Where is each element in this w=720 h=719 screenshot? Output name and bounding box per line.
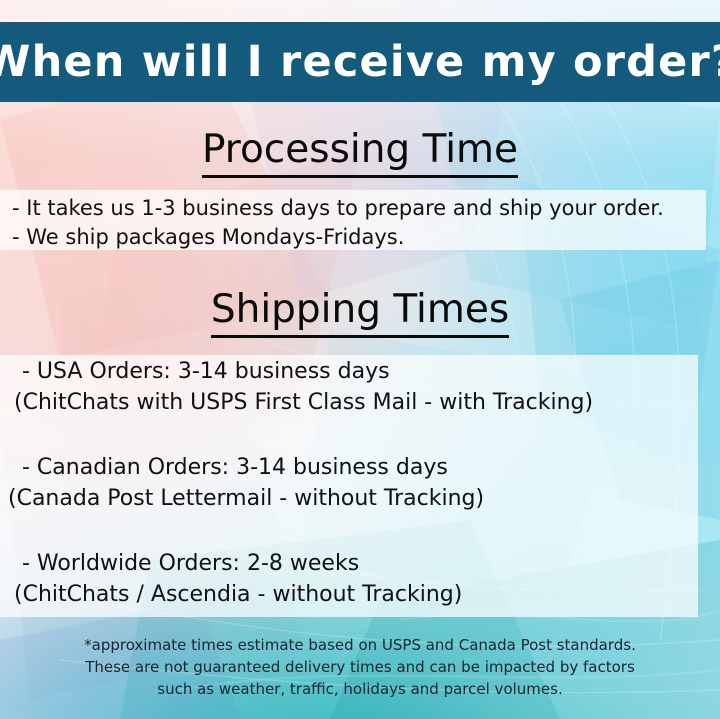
shipping-times-heading: Shipping Times [0, 290, 720, 329]
shipping-entry-worldwide-headline: - Worldwide Orders: 2-8 weeks [22, 548, 462, 579]
footnote-disclaimer: *approximate times estimate based on USP… [0, 634, 720, 700]
shipping-times-heading-text: Shipping Times [211, 287, 509, 338]
shipping-entry-usa-detail: (ChitChats with USPS First Class Mail - … [14, 387, 593, 418]
shipping-entry-canada: - Canadian Orders: 3-14 business days (C… [22, 452, 484, 514]
shipping-entry-worldwide: - Worldwide Orders: 2-8 weeks (ChitChats… [22, 548, 462, 610]
shipping-entry-canada-detail: (Canada Post Lettermail - without Tracki… [8, 483, 484, 514]
shipping-info-poster: When will I receive my order? Processing… [0, 0, 720, 719]
footnote-line-2: These are not guaranteed delivery times … [0, 656, 720, 678]
processing-time-heading: Processing Time [0, 130, 720, 169]
shipping-entry-canada-headline: - Canadian Orders: 3-14 business days [22, 452, 484, 483]
shipping-entry-usa-headline: - USA Orders: 3-14 business days [22, 356, 593, 387]
processing-time-heading-text: Processing Time [202, 127, 518, 178]
page-title: When will I receive my order? [0, 41, 720, 84]
shipping-entry-usa: - USA Orders: 3-14 business days (ChitCh… [22, 356, 593, 418]
footnote-line-3: such as weather, traffic, holidays and p… [0, 678, 720, 700]
processing-time-line-1: - It takes us 1-3 business days to prepa… [12, 194, 664, 223]
footnote-line-1: *approximate times estimate based on USP… [0, 634, 720, 656]
processing-time-line-2: - We ship packages Mondays-Fridays. [12, 223, 404, 252]
header-banner: When will I receive my order? [0, 22, 720, 102]
shipping-entry-worldwide-detail: (ChitChats / Ascendia - without Tracking… [14, 579, 462, 610]
